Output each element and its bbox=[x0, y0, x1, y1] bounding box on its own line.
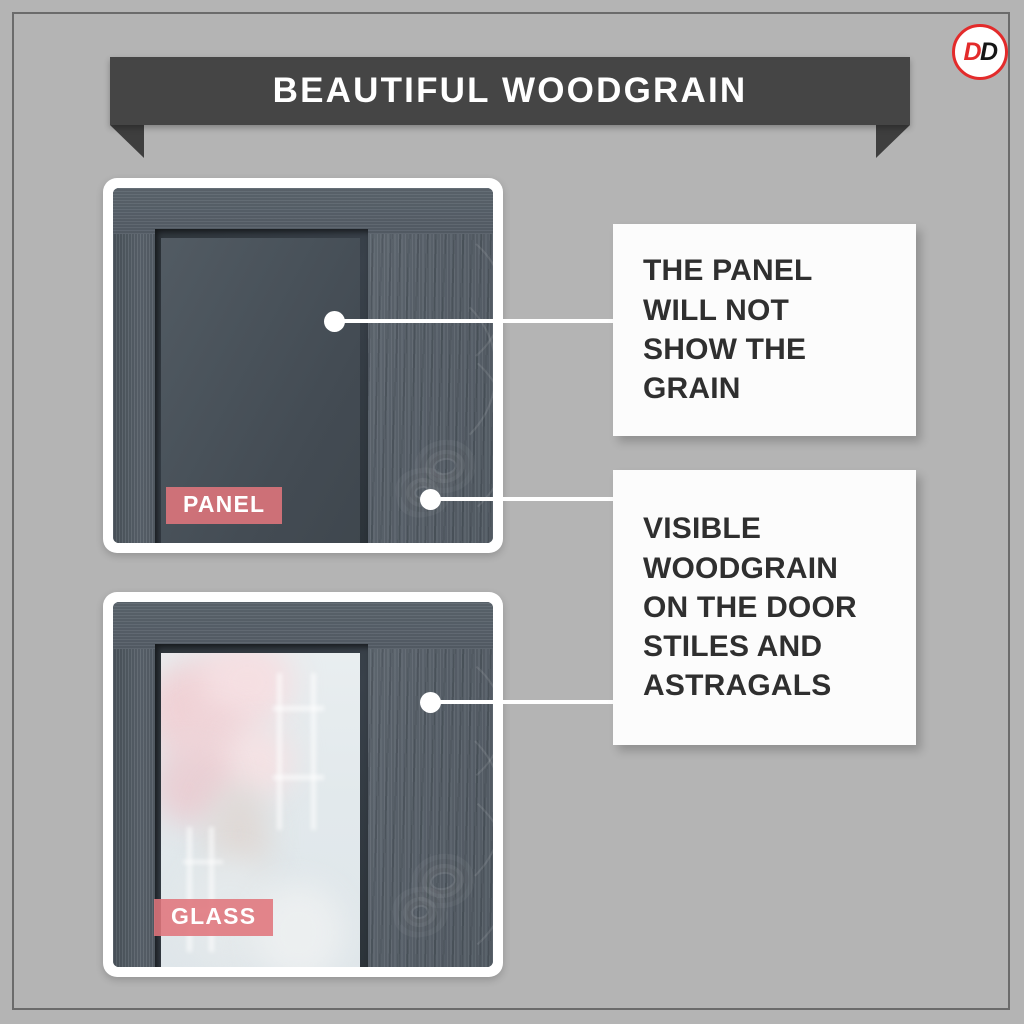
badge-glass: GLASS bbox=[154, 899, 273, 936]
door-glass-image: GLASS bbox=[113, 602, 493, 967]
door-glass-photo: GLASS bbox=[103, 592, 503, 977]
logo-letter-first: D bbox=[963, 38, 980, 66]
door-left-edge bbox=[113, 602, 159, 967]
woodgrain-stile bbox=[356, 602, 493, 967]
dd-logo: DD bbox=[952, 24, 1008, 80]
connector-line-stile-top bbox=[436, 497, 616, 501]
connector-line-stile-bottom bbox=[436, 700, 616, 704]
callout-visible-woodgrain: VISIBLE WOODGRAIN ON THE DOOR STILES AND… bbox=[613, 470, 916, 745]
door-top-rail bbox=[113, 602, 493, 649]
page-title: BEAUTIFUL WOODGRAIN bbox=[110, 57, 910, 125]
badge-panel: PANEL bbox=[166, 487, 282, 524]
header-ribbon: BEAUTIFUL WOODGRAIN bbox=[110, 57, 910, 157]
ribbon-tail-right bbox=[876, 125, 910, 158]
door-left-edge bbox=[113, 188, 159, 543]
door-top-rail bbox=[113, 188, 493, 234]
callout-woodgrain-text: VISIBLE WOODGRAIN ON THE DOOR STILES AND… bbox=[643, 509, 857, 705]
connector-line-panel bbox=[340, 319, 615, 323]
callout-panel-text: THE PANEL WILL NOT SHOW THE GRAIN bbox=[643, 251, 813, 408]
infographic-canvas: BEAUTIFUL WOODGRAIN DD PANEL bbox=[0, 0, 1024, 1024]
logo-lettermark: DD bbox=[963, 40, 996, 65]
callout-panel-no-grain: THE PANEL WILL NOT SHOW THE GRAIN bbox=[613, 224, 916, 436]
ribbon-tail-left bbox=[110, 125, 144, 158]
logo-letter-second: D bbox=[980, 38, 997, 66]
